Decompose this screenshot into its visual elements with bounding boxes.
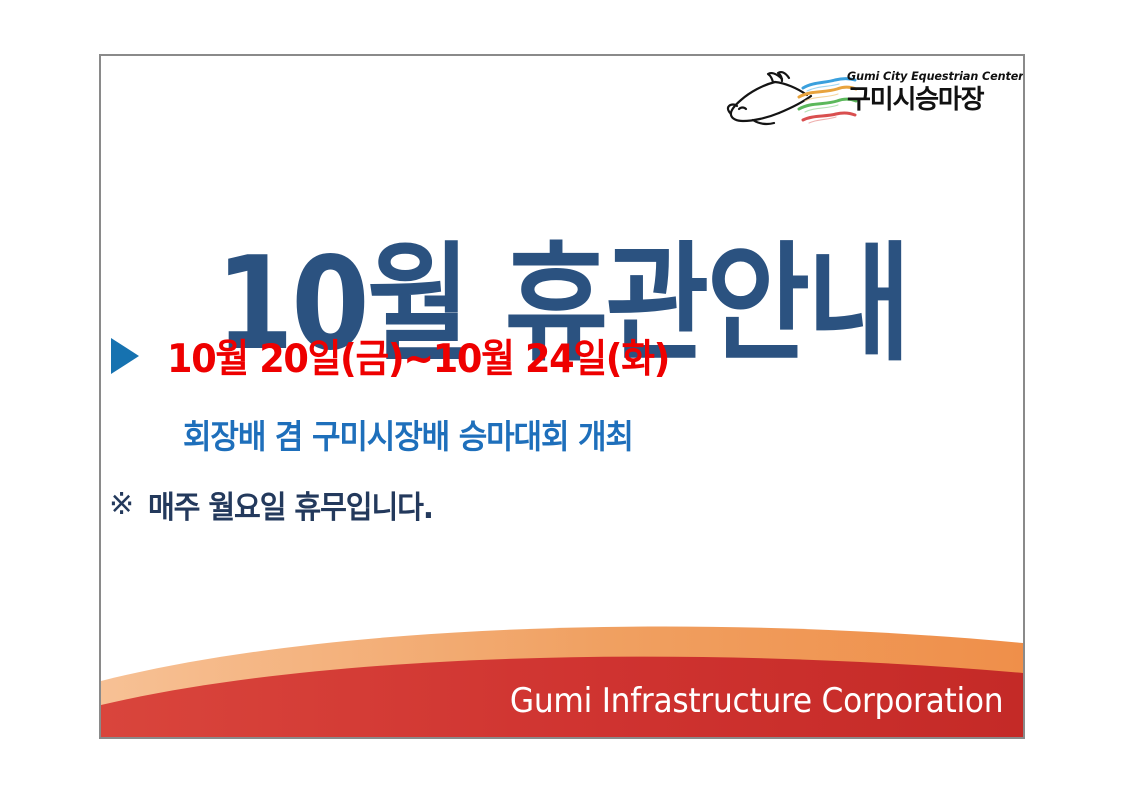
logo-korean-name: 구미시승마장	[847, 84, 1015, 116]
organization-name: Gumi Infrastructure Corporation	[510, 681, 1003, 721]
event-row: 회장배 겸 구미시장배 승마대회 개최	[101, 410, 1023, 458]
closure-date-row: 10월 20일(금)~10월 24일(화)	[101, 328, 1023, 384]
weekly-note-row: ※ 매주 월요일 휴무입니다.	[101, 482, 1023, 527]
logo-english-name: Gumi City Equestrian Center	[847, 70, 1015, 83]
horse-head-icon	[719, 66, 859, 132]
closure-date-range: 10월 20일(금)~10월 24일(화)	[167, 328, 669, 384]
poster-frame: Gumi City Equestrian Center 구미시승마장 10월 휴…	[99, 54, 1025, 739]
equestrian-center-logo: Gumi City Equestrian Center 구미시승마장	[719, 64, 1009, 134]
reference-mark-icon: ※	[109, 490, 134, 520]
event-name: 회장배 겸 구미시장배 승마대회 개최	[183, 410, 633, 458]
weekly-closure-note: 매주 월요일 휴무입니다.	[148, 482, 433, 527]
footer-banner: Gumi Infrastructure Corporation	[101, 607, 1023, 737]
notice-body: 10월 20일(금)~10월 24일(화) 회장배 겸 구미시장배 승마대회 개…	[101, 328, 1023, 527]
logo-text-block: Gumi City Equestrian Center 구미시승마장	[847, 70, 1015, 116]
triangle-right-icon	[111, 338, 139, 374]
